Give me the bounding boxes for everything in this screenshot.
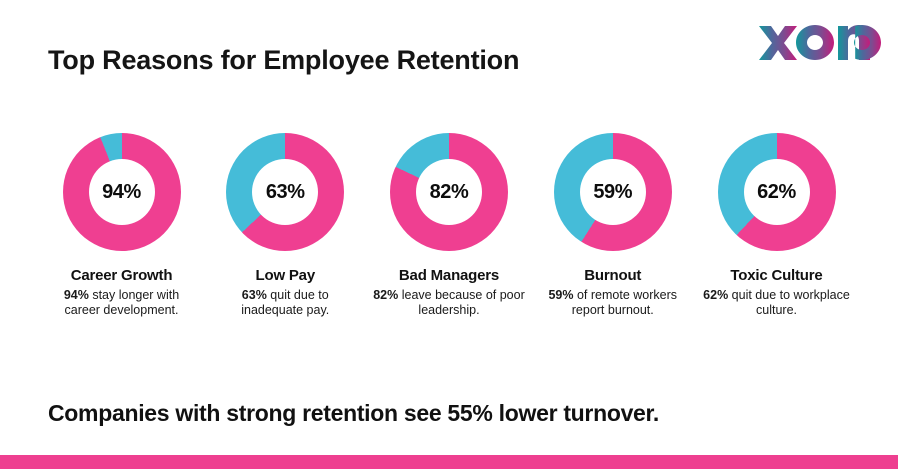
footer-statement: Companies with strong retention see 55% … [48, 400, 659, 427]
xono-logo [757, 16, 883, 62]
donut-chart-low-pay: 63% [226, 133, 344, 251]
metric-card-bad-managers: 82% Bad Managers 82% leave because of po… [368, 133, 531, 318]
page-title: Top Reasons for Employee Retention [48, 45, 519, 76]
card-title: Toxic Culture [730, 267, 822, 284]
card-description: 94% stay longer with career development. [46, 288, 198, 318]
card-description-text: of remote workers report burnout. [572, 288, 677, 317]
card-description: 59% of remote workers report burnout. [537, 288, 689, 318]
card-title: Burnout [584, 267, 641, 284]
metric-card-low-pay: 63% Low Pay 63% quit due to inadequate p… [204, 133, 367, 318]
card-description-value: 59% [548, 288, 573, 302]
donut-chart-bad-managers: 82% [390, 133, 508, 251]
card-title: Career Growth [71, 267, 173, 284]
card-description-value: 63% [242, 288, 267, 302]
donut-ring: 94% [63, 133, 181, 251]
donut-ring: 59% [554, 133, 672, 251]
donut-ring: 63% [226, 133, 344, 251]
donut-center: 94% [89, 159, 155, 225]
metric-card-toxic-culture: 62% Toxic Culture 62% quit due to workpl… [695, 133, 858, 318]
card-description: 82% leave because of poor leadership. [373, 288, 525, 318]
donut-value-label: 63% [266, 181, 305, 204]
donut-center: 82% [416, 159, 482, 225]
donut-center: 62% [744, 159, 810, 225]
card-description-value: 62% [703, 288, 728, 302]
card-title: Bad Managers [399, 267, 499, 284]
donut-value-label: 62% [757, 181, 796, 204]
donut-value-label: 59% [593, 181, 632, 204]
donut-card-row: 94% Career Growth 94% stay longer with c… [40, 133, 858, 318]
donut-chart-toxic-culture: 62% [718, 133, 836, 251]
donut-chart-career-growth: 94% [63, 133, 181, 251]
bottom-accent-bar [0, 455, 898, 469]
donut-value-label: 94% [102, 181, 141, 204]
card-description-text: leave because of poor leadership. [398, 288, 524, 317]
donut-center: 59% [580, 159, 646, 225]
metric-card-burnout: 59% Burnout 59% of remote workers report… [531, 133, 694, 318]
donut-chart-burnout: 59% [554, 133, 672, 251]
infographic-canvas: Top Reasons for Employee Retention 94% C… [0, 0, 898, 469]
card-description-text: quit due to workplace culture. [728, 288, 850, 317]
card-description: 62% quit due to workplace culture. [701, 288, 853, 318]
card-description-value: 94% [64, 288, 89, 302]
donut-ring: 82% [390, 133, 508, 251]
card-description-value: 82% [373, 288, 398, 302]
card-description: 63% quit due to inadequate pay. [209, 288, 361, 318]
donut-center: 63% [252, 159, 318, 225]
xono-logo-icon [757, 16, 883, 62]
donut-ring: 62% [718, 133, 836, 251]
metric-card-career-growth: 94% Career Growth 94% stay longer with c… [40, 133, 203, 318]
card-title: Low Pay [256, 267, 315, 284]
donut-value-label: 82% [430, 181, 469, 204]
